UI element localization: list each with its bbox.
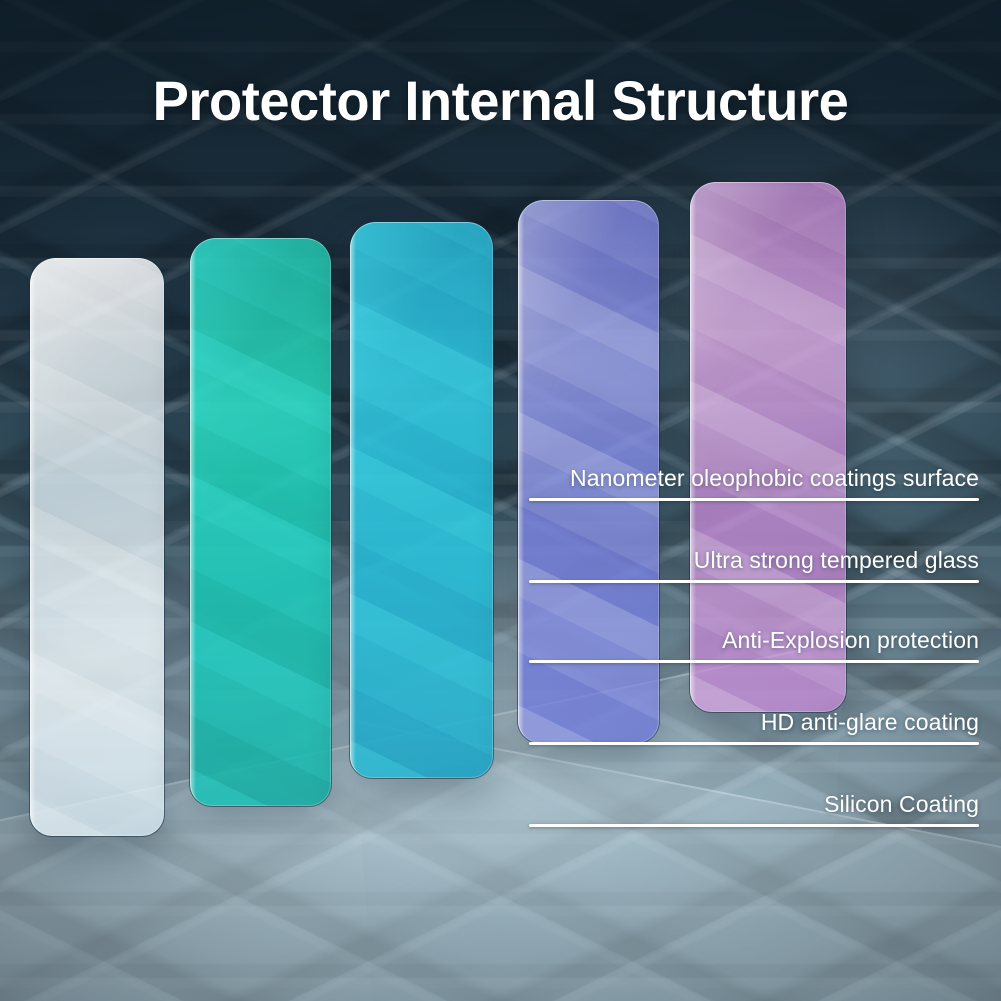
callout-underline (529, 580, 979, 583)
callout-label: Ultra strong tempered glass (529, 548, 979, 580)
product-infographic: Protector Internal Structure (0, 0, 1001, 1001)
callout-nanometer-oleophobic-coatings-surface: Nanometer oleophobic coatings surface (529, 466, 979, 501)
callout-label: Anti-Explosion protection (529, 628, 979, 660)
callout-label: Silicon Coating (529, 792, 979, 824)
callout-underline (529, 660, 979, 663)
callout-ultra-strong-tempered-glass: Ultra strong tempered glass (529, 548, 979, 583)
callout-hd-anti-glare-coating: HD anti-glare coating (529, 710, 979, 745)
callout-underline (529, 742, 979, 745)
callout-anti-explosion-protection: Anti-Explosion protection (529, 628, 979, 663)
callout-label: Nanometer oleophobic coatings surface (529, 466, 979, 498)
callout-label: HD anti-glare coating (529, 710, 979, 742)
callout-underline (529, 824, 979, 827)
callout-underline (529, 498, 979, 501)
callout-silicon-coating: Silicon Coating (529, 792, 979, 827)
callout-list: Nanometer oleophobic coatings surface Ul… (0, 0, 1001, 1001)
